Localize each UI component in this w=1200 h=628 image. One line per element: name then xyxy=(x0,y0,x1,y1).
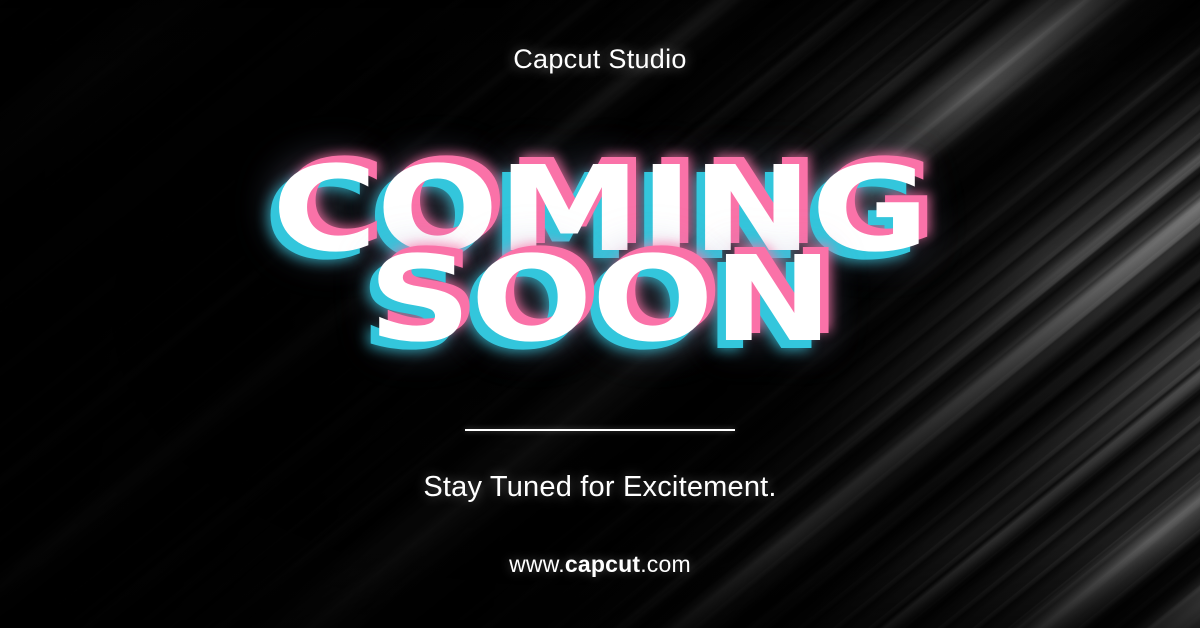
url-name: capcut xyxy=(565,551,640,577)
tagline-text: Stay Tuned for Excitement. xyxy=(0,471,1200,504)
poster-content: Capcut Studio COMING SOON Stay Tuned for… xyxy=(0,0,1200,628)
website-url[interactable]: www.capcut.com xyxy=(0,551,1200,578)
url-suffix: .com xyxy=(640,551,691,577)
headline-line-soon: SOON xyxy=(0,248,1200,352)
coming-soon-poster: Capcut Studio COMING SOON Stay Tuned for… xyxy=(0,0,1200,628)
divider-rule xyxy=(465,429,735,431)
headline-block: COMING SOON xyxy=(0,158,1200,352)
brand-title: Capcut Studio xyxy=(0,44,1200,75)
url-prefix: www. xyxy=(509,551,565,577)
